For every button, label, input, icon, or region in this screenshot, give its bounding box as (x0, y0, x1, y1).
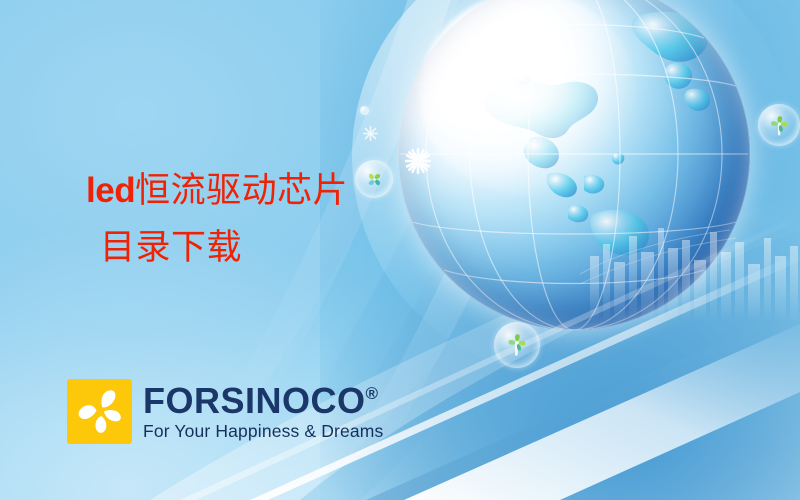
starburst-large (405, 148, 431, 174)
globe-landmasses (484, 12, 710, 255)
bubble-pinwheel-medium (494, 322, 540, 368)
starburst-small (363, 126, 378, 141)
brand-logo-text: FORSINOCO ® For Your Happiness & Dreams (143, 383, 383, 441)
globe-gridlines (398, 0, 750, 330)
forsinoco-pinwheel-mark (67, 379, 132, 444)
brand-name: FORSINOCO (143, 383, 366, 419)
brand-tagline: For Your Happiness & Dreams (143, 423, 383, 441)
headline-cjk: 恒流驱动芯片 (135, 171, 348, 210)
city-skyline-silhouette (580, 222, 800, 322)
headline: led恒流驱动芯片 目录下载 (86, 163, 348, 276)
promo-banner: led恒流驱动芯片 目录下载 FORSINOCO ® For Your Happ… (0, 0, 800, 500)
globe-sphere (398, 0, 750, 330)
pinwheel-flower-icon (67, 379, 132, 444)
background-wash-right (320, 0, 800, 500)
registered-trademark-icon: ® (366, 385, 379, 402)
bubble-pinwheel-small (355, 160, 393, 198)
pinwheel-icon (366, 171, 383, 188)
globe-specular-highlight (419, 0, 637, 196)
bubble-pinwheel-edge (758, 104, 800, 146)
globe-surface (398, 0, 750, 330)
headline-line-2: 目录下载 (86, 220, 348, 277)
background-wash-bottom-right (320, 210, 800, 500)
brand-name-row: FORSINOCO ® (143, 383, 383, 419)
headline-line-1: led恒流驱动芯片 (86, 163, 348, 220)
globe-rim-light (398, 0, 750, 330)
headline-latin: led (86, 171, 135, 210)
bubble-tiny (360, 106, 369, 115)
pinwheel-icon (768, 114, 791, 137)
pinwheel-windmill-icon (504, 332, 530, 358)
world-globe (398, 0, 750, 330)
brand-logo: FORSINOCO ® For Your Happiness & Dreams (67, 379, 383, 444)
globe-glow (352, 0, 796, 378)
